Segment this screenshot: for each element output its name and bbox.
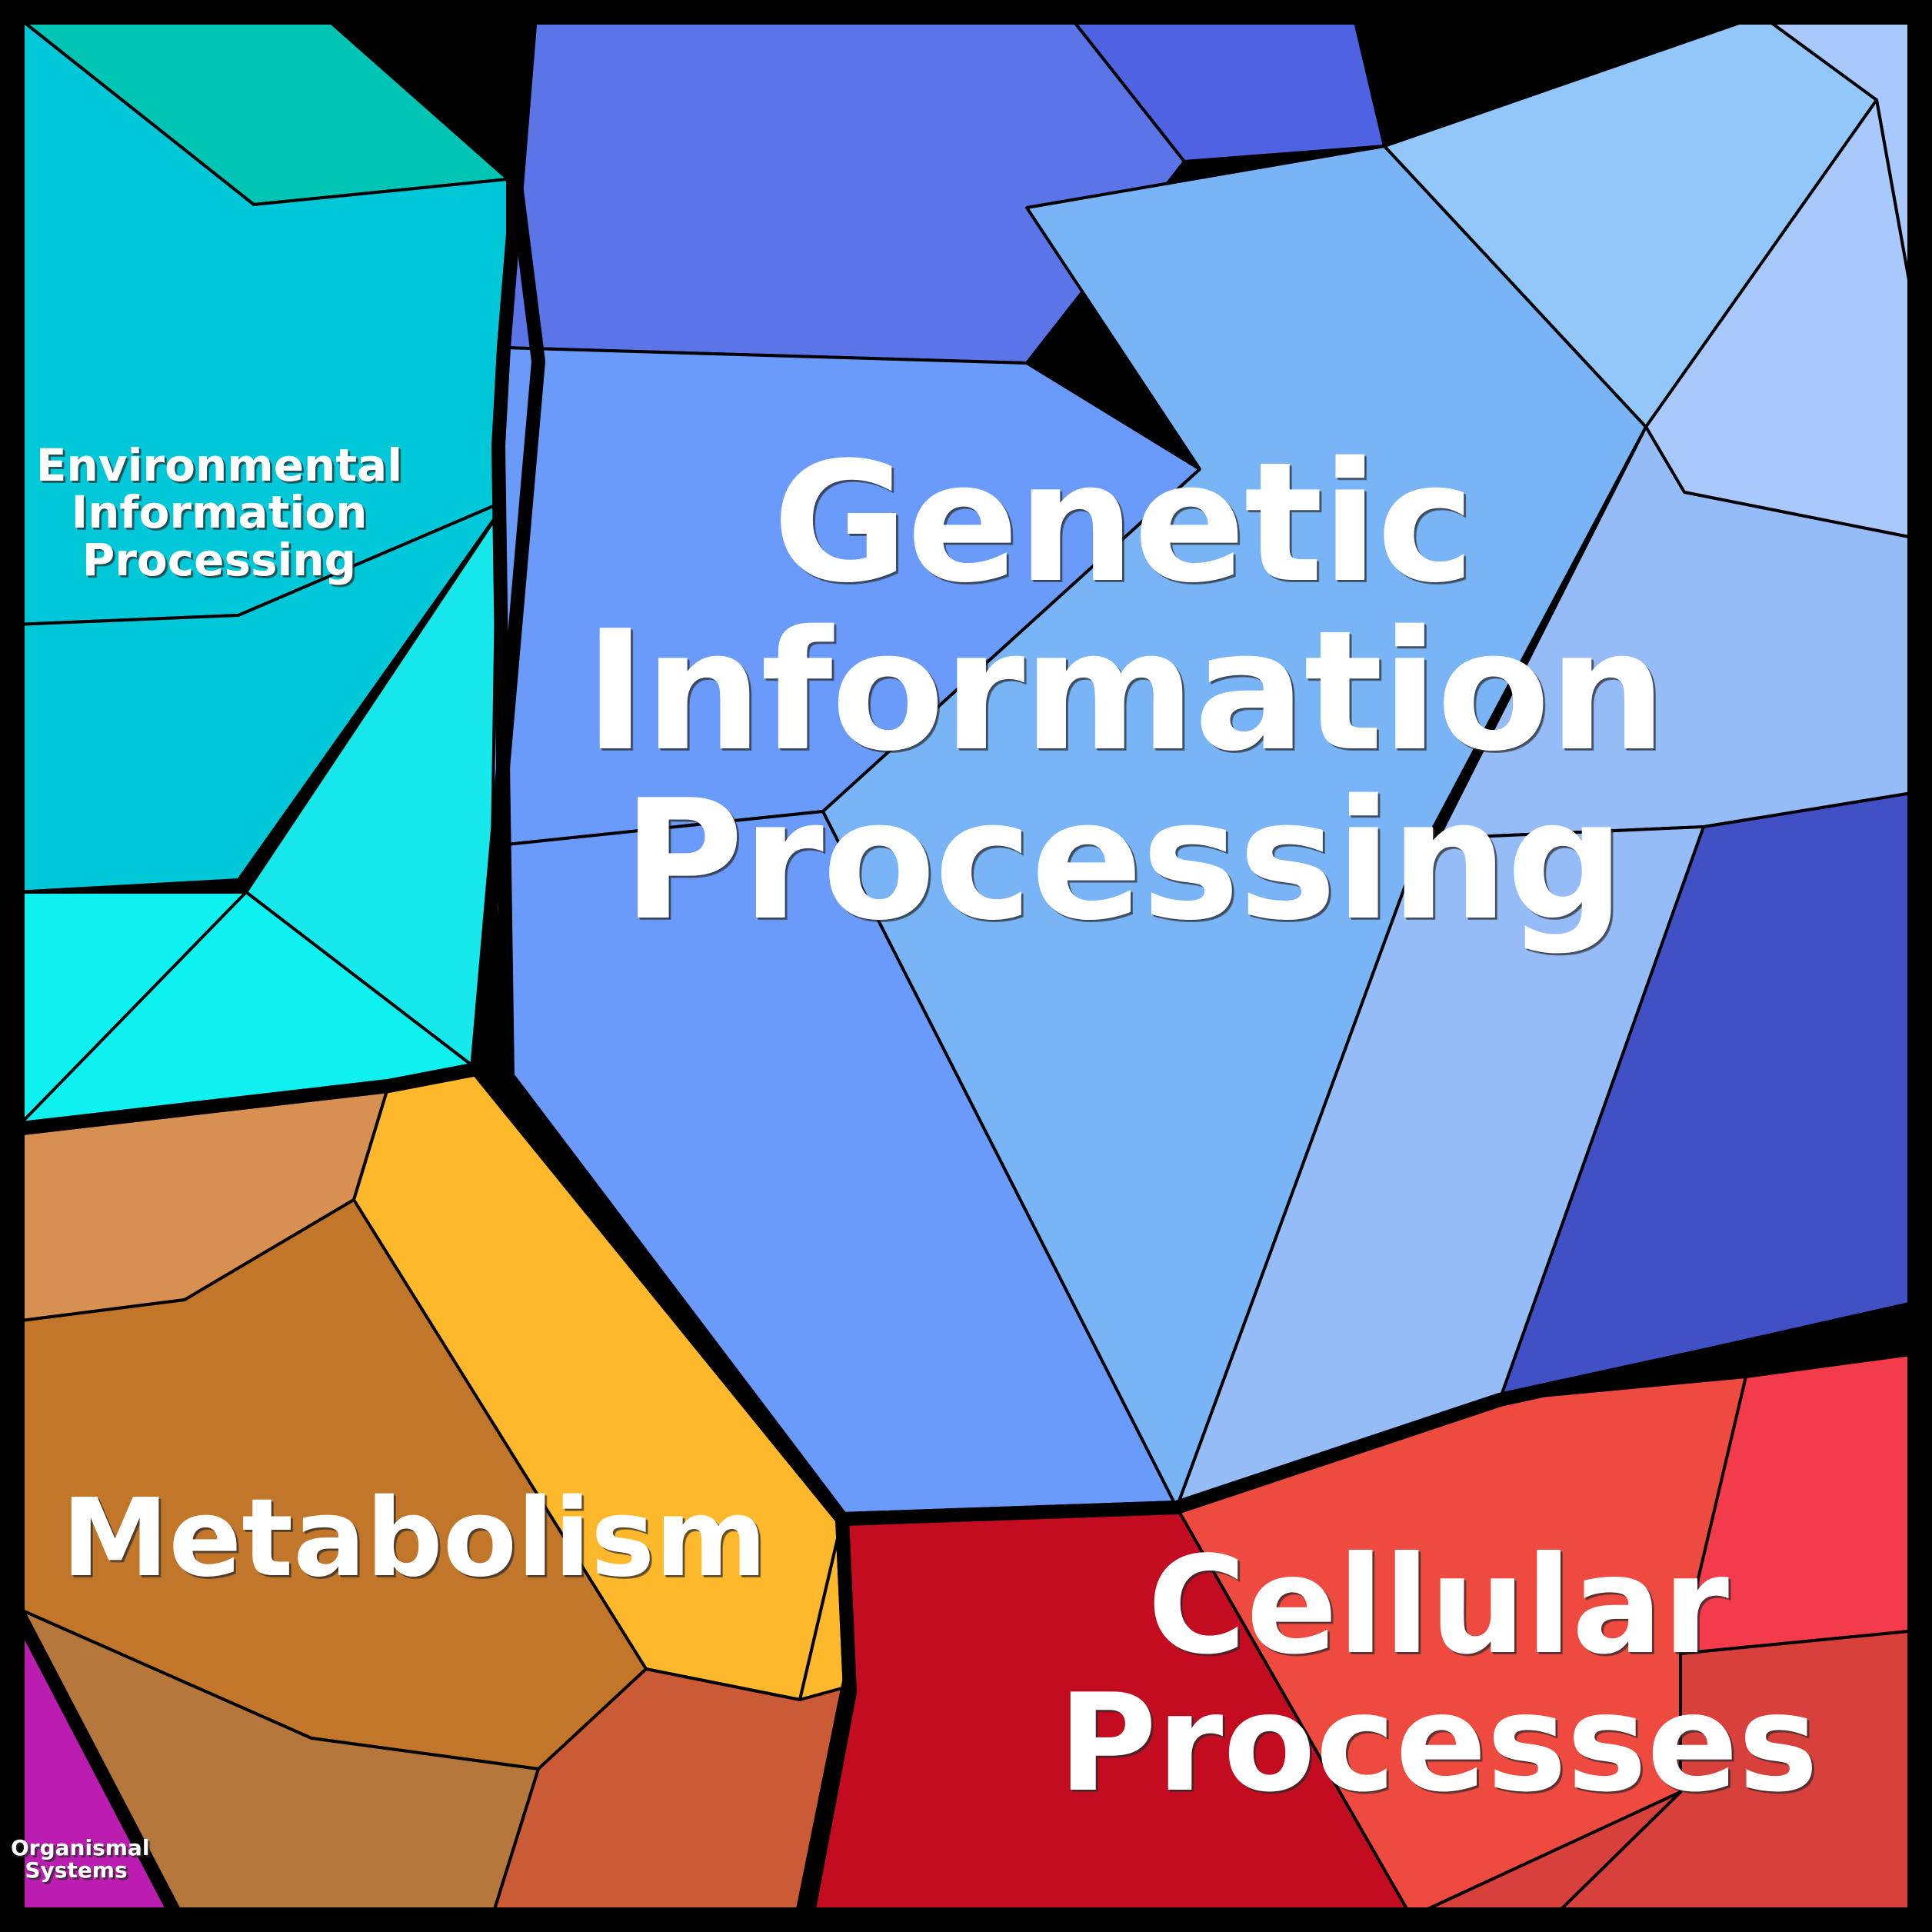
voronoi-treemap-canvas: Environmental Information Processing Gen… bbox=[0, 0, 1932, 1932]
voronoi-diagram bbox=[0, 0, 1932, 1932]
cells-layer bbox=[15, 15, 1917, 1917]
